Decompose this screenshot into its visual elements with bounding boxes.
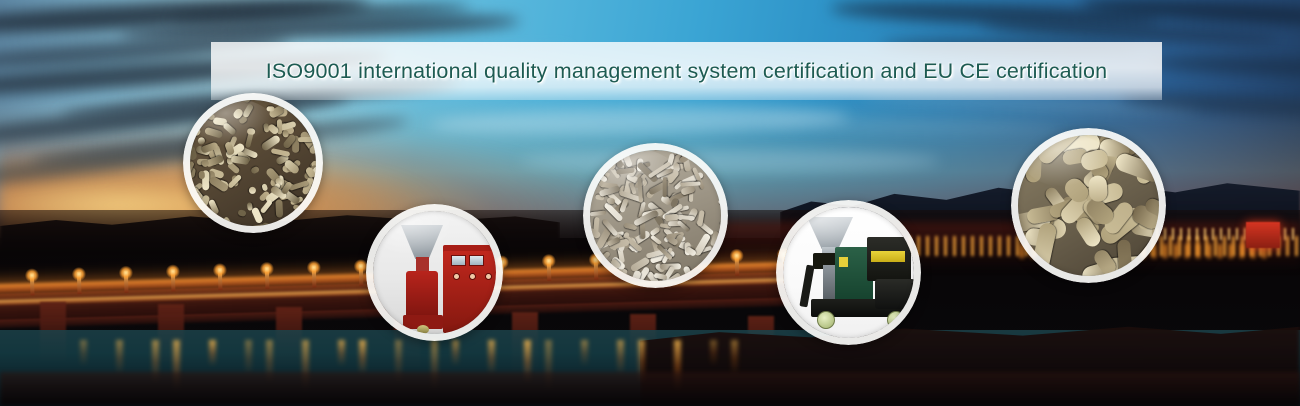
red-lit-building — [1246, 222, 1280, 248]
bubble-image-3 — [590, 150, 721, 281]
bubble-wood-pellets-closeup[interactable] — [183, 93, 323, 233]
street-lamp-icon — [218, 268, 223, 290]
gauge-icon — [469, 255, 484, 266]
light-reflection — [617, 340, 624, 375]
light-reflection — [245, 340, 252, 375]
light-reflection — [116, 340, 123, 375]
gauge-icon — [451, 255, 466, 266]
knob-icon — [469, 273, 476, 280]
wheel-icon — [817, 311, 835, 329]
bubble-image-5 — [1018, 135, 1159, 276]
light-reflection — [488, 340, 495, 375]
wheel-icon — [887, 311, 905, 329]
bubble-image-2 — [373, 211, 496, 334]
pellet-texture-5 — [1018, 135, 1159, 276]
street-lamp-icon — [124, 271, 129, 293]
street-lamp-icon — [77, 272, 82, 294]
bubble-image-1 — [190, 100, 316, 226]
warning-label — [871, 251, 905, 262]
light-reflection — [359, 340, 366, 375]
promo-banner: ISO9001 international quality management… — [0, 0, 1300, 406]
bubble-green-pellet-mill[interactable] — [776, 200, 921, 345]
yellow-sticker — [839, 257, 848, 267]
mill-body — [406, 271, 438, 319]
street-lamp-icon — [735, 254, 740, 276]
street-lamp-icon — [359, 264, 364, 286]
light-reflection — [209, 340, 216, 366]
motor-cap — [911, 283, 914, 305]
bubble-large-wood-pellets[interactable] — [1011, 128, 1166, 283]
bubble-grey-wood-pellets[interactable] — [583, 143, 728, 288]
pellet-texture-3 — [590, 150, 721, 281]
bubble-red-pellet-mill[interactable] — [366, 204, 503, 341]
foreground-bank — [0, 372, 1300, 406]
street-lamp-icon — [265, 267, 270, 289]
hopper-icon — [401, 225, 443, 259]
knob-icon — [485, 273, 492, 280]
street-lamp-icon — [30, 273, 35, 295]
street-lamp-icon — [171, 269, 176, 291]
light-reflection — [452, 340, 459, 366]
page-title: ISO9001 international quality management… — [211, 42, 1162, 100]
light-reflection — [338, 340, 345, 366]
mill-foot — [417, 325, 429, 334]
electric-motor — [875, 279, 914, 309]
knob-icon — [453, 273, 460, 280]
light-reflection — [80, 340, 87, 366]
pellet-texture-1 — [190, 100, 316, 226]
bubble-image-4 — [783, 207, 914, 338]
light-reflection — [581, 340, 588, 366]
street-lamp-icon — [547, 259, 552, 281]
street-lamp-icon — [312, 265, 317, 287]
light-reflection — [710, 340, 717, 366]
light-reflection — [731, 340, 738, 375]
hopper-icon — [807, 217, 853, 249]
